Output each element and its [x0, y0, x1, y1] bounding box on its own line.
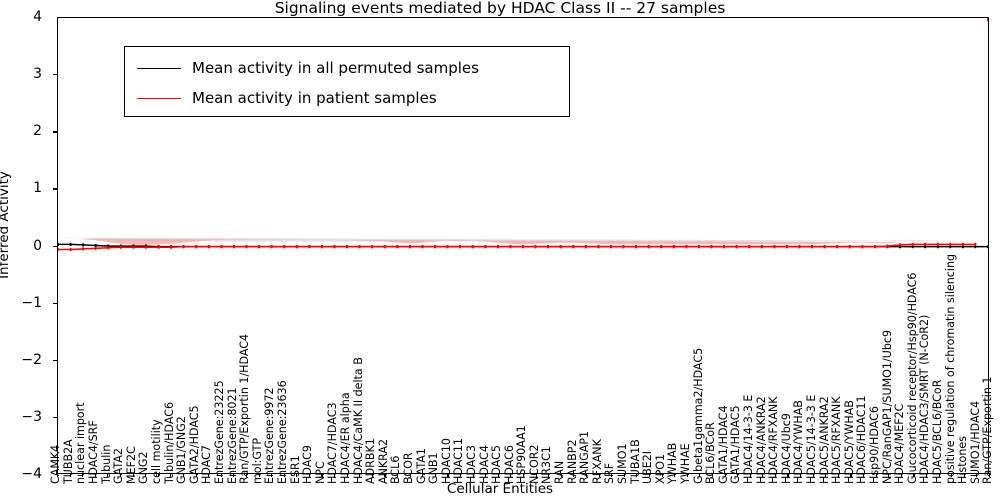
x-tick-label: YWHAB — [667, 443, 678, 484]
data-point-marker — [459, 245, 461, 248]
legend-label-permuted: Mean activity in all permuted samples — [192, 59, 479, 77]
x-tick-label: mol:GTP — [252, 438, 263, 484]
data-point-marker — [648, 245, 650, 248]
data-point-marker — [962, 243, 964, 246]
data-point-marker — [346, 245, 348, 248]
x-tick-label: positive regulation of chromatin silenci… — [945, 254, 956, 484]
data-point-marker — [484, 245, 486, 248]
x-tick-label: RAN — [554, 461, 565, 484]
data-point-marker — [95, 244, 97, 247]
x-tick-label: CAMK4 — [50, 445, 61, 484]
x-tick-label: HDAC4/Ubc9 — [781, 413, 792, 484]
x-tick-label: HDAC4 — [479, 445, 490, 484]
data-point-marker — [497, 245, 499, 248]
data-point-marker — [183, 245, 185, 248]
data-point-marker — [522, 245, 524, 248]
x-tick-label: HDAC4/SRF — [88, 420, 99, 484]
data-point-marker — [447, 245, 449, 248]
data-point-marker — [384, 245, 386, 248]
data-point-marker — [572, 245, 574, 248]
legend: Mean activity in all permuted samples Me… — [124, 46, 570, 117]
y-tick-mark — [53, 131, 58, 132]
x-tick-label: HDAC6/HDAC11 — [856, 395, 867, 484]
y-tick-label: −2 — [8, 353, 42, 367]
data-point-marker — [748, 245, 750, 248]
x-tick-label: HDAC10 — [441, 438, 452, 484]
x-tick-label: GATA2 — [113, 448, 124, 484]
data-point-marker — [660, 245, 662, 248]
legend-item-permuted: Mean activity in all permuted samples — [134, 53, 560, 83]
data-point-marker — [623, 245, 625, 248]
x-tick-label: GATA1 — [416, 448, 427, 484]
x-tick-label: SRF — [604, 463, 615, 484]
data-point-marker — [711, 245, 713, 248]
data-point-marker — [145, 246, 147, 249]
data-point-marker — [937, 243, 939, 246]
legend-line-swatch-red — [137, 98, 181, 99]
x-tick-label: HDAC4/YWHAB — [793, 400, 804, 484]
confidence-bands-layer — [58, 238, 975, 245]
data-point-marker — [308, 245, 310, 248]
data-point-marker — [786, 245, 788, 248]
data-point-marker — [120, 246, 122, 249]
data-point-marker — [535, 245, 537, 248]
x-tick-label: G beta1gamma2/HDAC5 — [693, 348, 704, 484]
data-point-marker — [949, 243, 951, 246]
x-tick-label: HDAC5/RFXANK — [831, 397, 842, 484]
y-tick-label: 2 — [8, 124, 42, 138]
x-tick-label: HDAC5/14-3-3 E — [806, 395, 817, 484]
x-tick-label: GNB1/GNG2 — [176, 416, 187, 484]
x-tick-label: SUMO1 — [617, 443, 628, 484]
x-tick-label: BCL6 — [390, 456, 401, 484]
x-tick-label: HDAC3 — [466, 445, 477, 484]
data-point-marker — [82, 243, 84, 246]
data-point-marker — [598, 245, 600, 248]
data-point-marker — [296, 245, 298, 248]
y-tick-mark — [53, 303, 58, 304]
x-tick-label: HDAC6 — [504, 445, 515, 484]
x-tick-label: EntrezGene:23225 — [214, 380, 225, 484]
x-tick-label: HDAC4/ANKRA2 — [756, 396, 767, 484]
data-point-marker — [58, 248, 59, 251]
data-point-marker — [95, 247, 97, 250]
y-tick-label: 3 — [8, 67, 42, 81]
x-tick-label: ESR1 — [290, 455, 301, 484]
chart-title: Signaling events mediated by HDAC Class … — [0, 0, 1000, 17]
x-tick-label: HDAC7 — [201, 445, 212, 484]
data-point-marker — [673, 245, 675, 248]
x-tick-label: HDAC5/YWHAB — [844, 400, 855, 484]
x-tick-label: YWHAE — [680, 443, 691, 484]
data-point-marker — [208, 245, 210, 248]
x-tick-label: HDAC5/ANKRA2 — [819, 396, 830, 484]
y-tick-label: −3 — [8, 410, 42, 424]
legend-item-patient: Mean activity in patient samples — [134, 83, 560, 113]
x-tick-label: Ran/GTP/Exportin 1/HDAC4 — [239, 334, 250, 484]
data-point-marker — [560, 245, 562, 248]
data-point-marker — [334, 245, 336, 248]
x-tick-label: ADRBK1 — [365, 438, 376, 484]
data-point-marker — [58, 243, 59, 246]
data-point-marker — [685, 245, 687, 248]
y-tick-label: 1 — [8, 181, 42, 195]
data-point-marker — [836, 245, 838, 248]
data-point-marker — [472, 245, 474, 248]
data-point-marker — [761, 245, 763, 248]
data-point-marker — [773, 245, 775, 248]
x-tick-label: HDAC11 — [453, 438, 464, 484]
x-tick-label: MEF2C — [126, 446, 137, 484]
data-point-marker — [321, 245, 323, 248]
data-point-marker — [874, 245, 876, 248]
data-point-marker — [987, 245, 988, 248]
x-tick-label: EntrezGene:23636 — [277, 380, 288, 484]
x-tick-label: GATA2/HDAC5 — [189, 405, 200, 484]
x-tick-label: NPC — [315, 461, 326, 484]
x-tick-label: GATA1/HDAC4 — [718, 405, 729, 484]
x-tick-label: XPO1 — [655, 454, 666, 484]
data-point-marker — [434, 245, 436, 248]
y-tick-mark — [53, 246, 58, 247]
data-point-marker — [107, 246, 109, 249]
x-tick-label: Hsp90/HDAC6 — [869, 406, 880, 484]
data-point-marker — [246, 245, 248, 248]
x-tick-label: TUBB2A — [63, 439, 74, 484]
data-point-marker — [849, 245, 851, 248]
y-tick-mark — [53, 360, 58, 361]
x-tick-label: GNG2 — [138, 451, 149, 484]
x-tick-label: Ran/GTP/Exportin 1 — [982, 377, 993, 484]
x-tick-label: HDAC4/ER alpha — [340, 392, 351, 484]
data-point-marker — [698, 245, 700, 248]
legend-line-swatch-black — [137, 68, 181, 69]
data-point-marker — [422, 245, 424, 248]
x-tick-label: nuclear import — [75, 402, 86, 484]
x-tick-label: HDAC7/HDAC3 — [327, 402, 338, 484]
data-point-marker — [170, 246, 172, 249]
x-tick-label: RANGAP1 — [579, 431, 590, 484]
legend-label-patient: Mean activity in patient samples — [192, 89, 437, 107]
x-tick-label: UBE2I — [642, 451, 653, 484]
x-tick-label: HSP90AA1 — [516, 425, 527, 484]
data-point-marker — [547, 245, 549, 248]
x-tick-label: HDAC4/CaMK II delta B — [353, 357, 364, 484]
data-point-marker — [861, 245, 863, 248]
y-tick-mark — [53, 74, 58, 75]
data-point-marker — [220, 245, 222, 248]
x-tick-label: NR3C1 — [541, 446, 552, 484]
data-point-marker — [158, 246, 160, 249]
x-tick-label: HDAC4/14-3-3 E — [743, 395, 754, 484]
data-point-marker — [359, 245, 361, 248]
data-point-marker — [396, 245, 398, 248]
data-point-marker — [912, 243, 914, 246]
x-tick-label: HDAC4/RFXANK — [768, 397, 779, 484]
x-tick-label: NPC/RanGAP1/SUMO1/Ubc9 — [882, 330, 893, 484]
data-point-marker — [258, 245, 260, 248]
data-point-marker — [283, 245, 285, 248]
x-tick-label: cell motility — [151, 419, 162, 484]
x-tick-label: SUMO1/HDAC4 — [970, 401, 981, 484]
data-point-marker — [635, 245, 637, 248]
x-tick-label: EntrezGene:9972 — [264, 387, 275, 484]
x-tick-label: Histones — [957, 436, 968, 484]
data-point-marker — [610, 245, 612, 248]
chart-page: Signaling events mediated by HDAC Class … — [0, 0, 1000, 500]
data-point-marker — [887, 244, 889, 247]
x-tick-label: BCL6/BCoR — [705, 422, 716, 484]
y-tick-mark — [53, 188, 58, 189]
data-point-marker — [987, 18, 988, 21]
x-tick-label: HDAC9 — [302, 445, 313, 484]
data-point-marker — [811, 245, 813, 248]
x-tick-label: Glucocorticoid receptor/Hsp90/HDAC6 — [907, 273, 918, 484]
x-tick-label: EntrezGene:8021 — [227, 387, 238, 484]
data-point-marker — [70, 243, 72, 246]
data-point-marker — [409, 245, 411, 248]
data-point-marker — [371, 245, 373, 248]
data-point-marker — [82, 247, 84, 250]
data-point-marker — [975, 243, 977, 246]
x-tick-label: GNB1 — [428, 452, 439, 484]
x-tick-label: TUBA1B — [630, 439, 641, 484]
x-tick-label: HDAC5/BCL6/BCoR — [932, 380, 943, 484]
y-tick-label: −1 — [8, 296, 42, 310]
x-tick-label: HDAC4/MEF2C — [894, 404, 905, 484]
data-point-marker — [799, 245, 801, 248]
data-point-marker — [924, 243, 926, 246]
x-tick-label: BCOR — [403, 452, 414, 484]
data-point-marker — [271, 245, 273, 248]
data-point-marker — [233, 245, 235, 248]
y-tick-mark — [53, 417, 58, 418]
data-point-marker — [510, 245, 512, 248]
data-point-marker — [585, 245, 587, 248]
data-point-marker — [899, 243, 901, 246]
x-tick-label: ANKRA2 — [378, 439, 389, 484]
y-tick-label: 0 — [8, 239, 42, 253]
data-point-marker — [824, 245, 826, 248]
x-tick-label: RANBP2 — [567, 439, 578, 484]
y-tick-label: −4 — [8, 467, 42, 481]
y-tick-label: 4 — [8, 10, 42, 24]
x-tick-label: Tubulin — [101, 445, 112, 484]
data-point-marker — [723, 245, 725, 248]
data-point-marker — [195, 245, 197, 248]
data-point-marker — [736, 245, 738, 248]
x-tick-label: HDAC5 — [491, 445, 502, 484]
x-tick-label: Tubulin/HDAC6 — [164, 402, 175, 484]
data-point-marker — [70, 248, 72, 251]
data-point-marker — [133, 246, 135, 249]
x-tick-label: HDAC4/HDAC3/SMRT (N-CoR2) — [919, 315, 930, 484]
x-tick-label: GATA1/HDAC5 — [730, 405, 741, 484]
x-tick-label: RFXANK — [592, 439, 603, 484]
x-tick-label: NCOR2 — [529, 444, 540, 484]
